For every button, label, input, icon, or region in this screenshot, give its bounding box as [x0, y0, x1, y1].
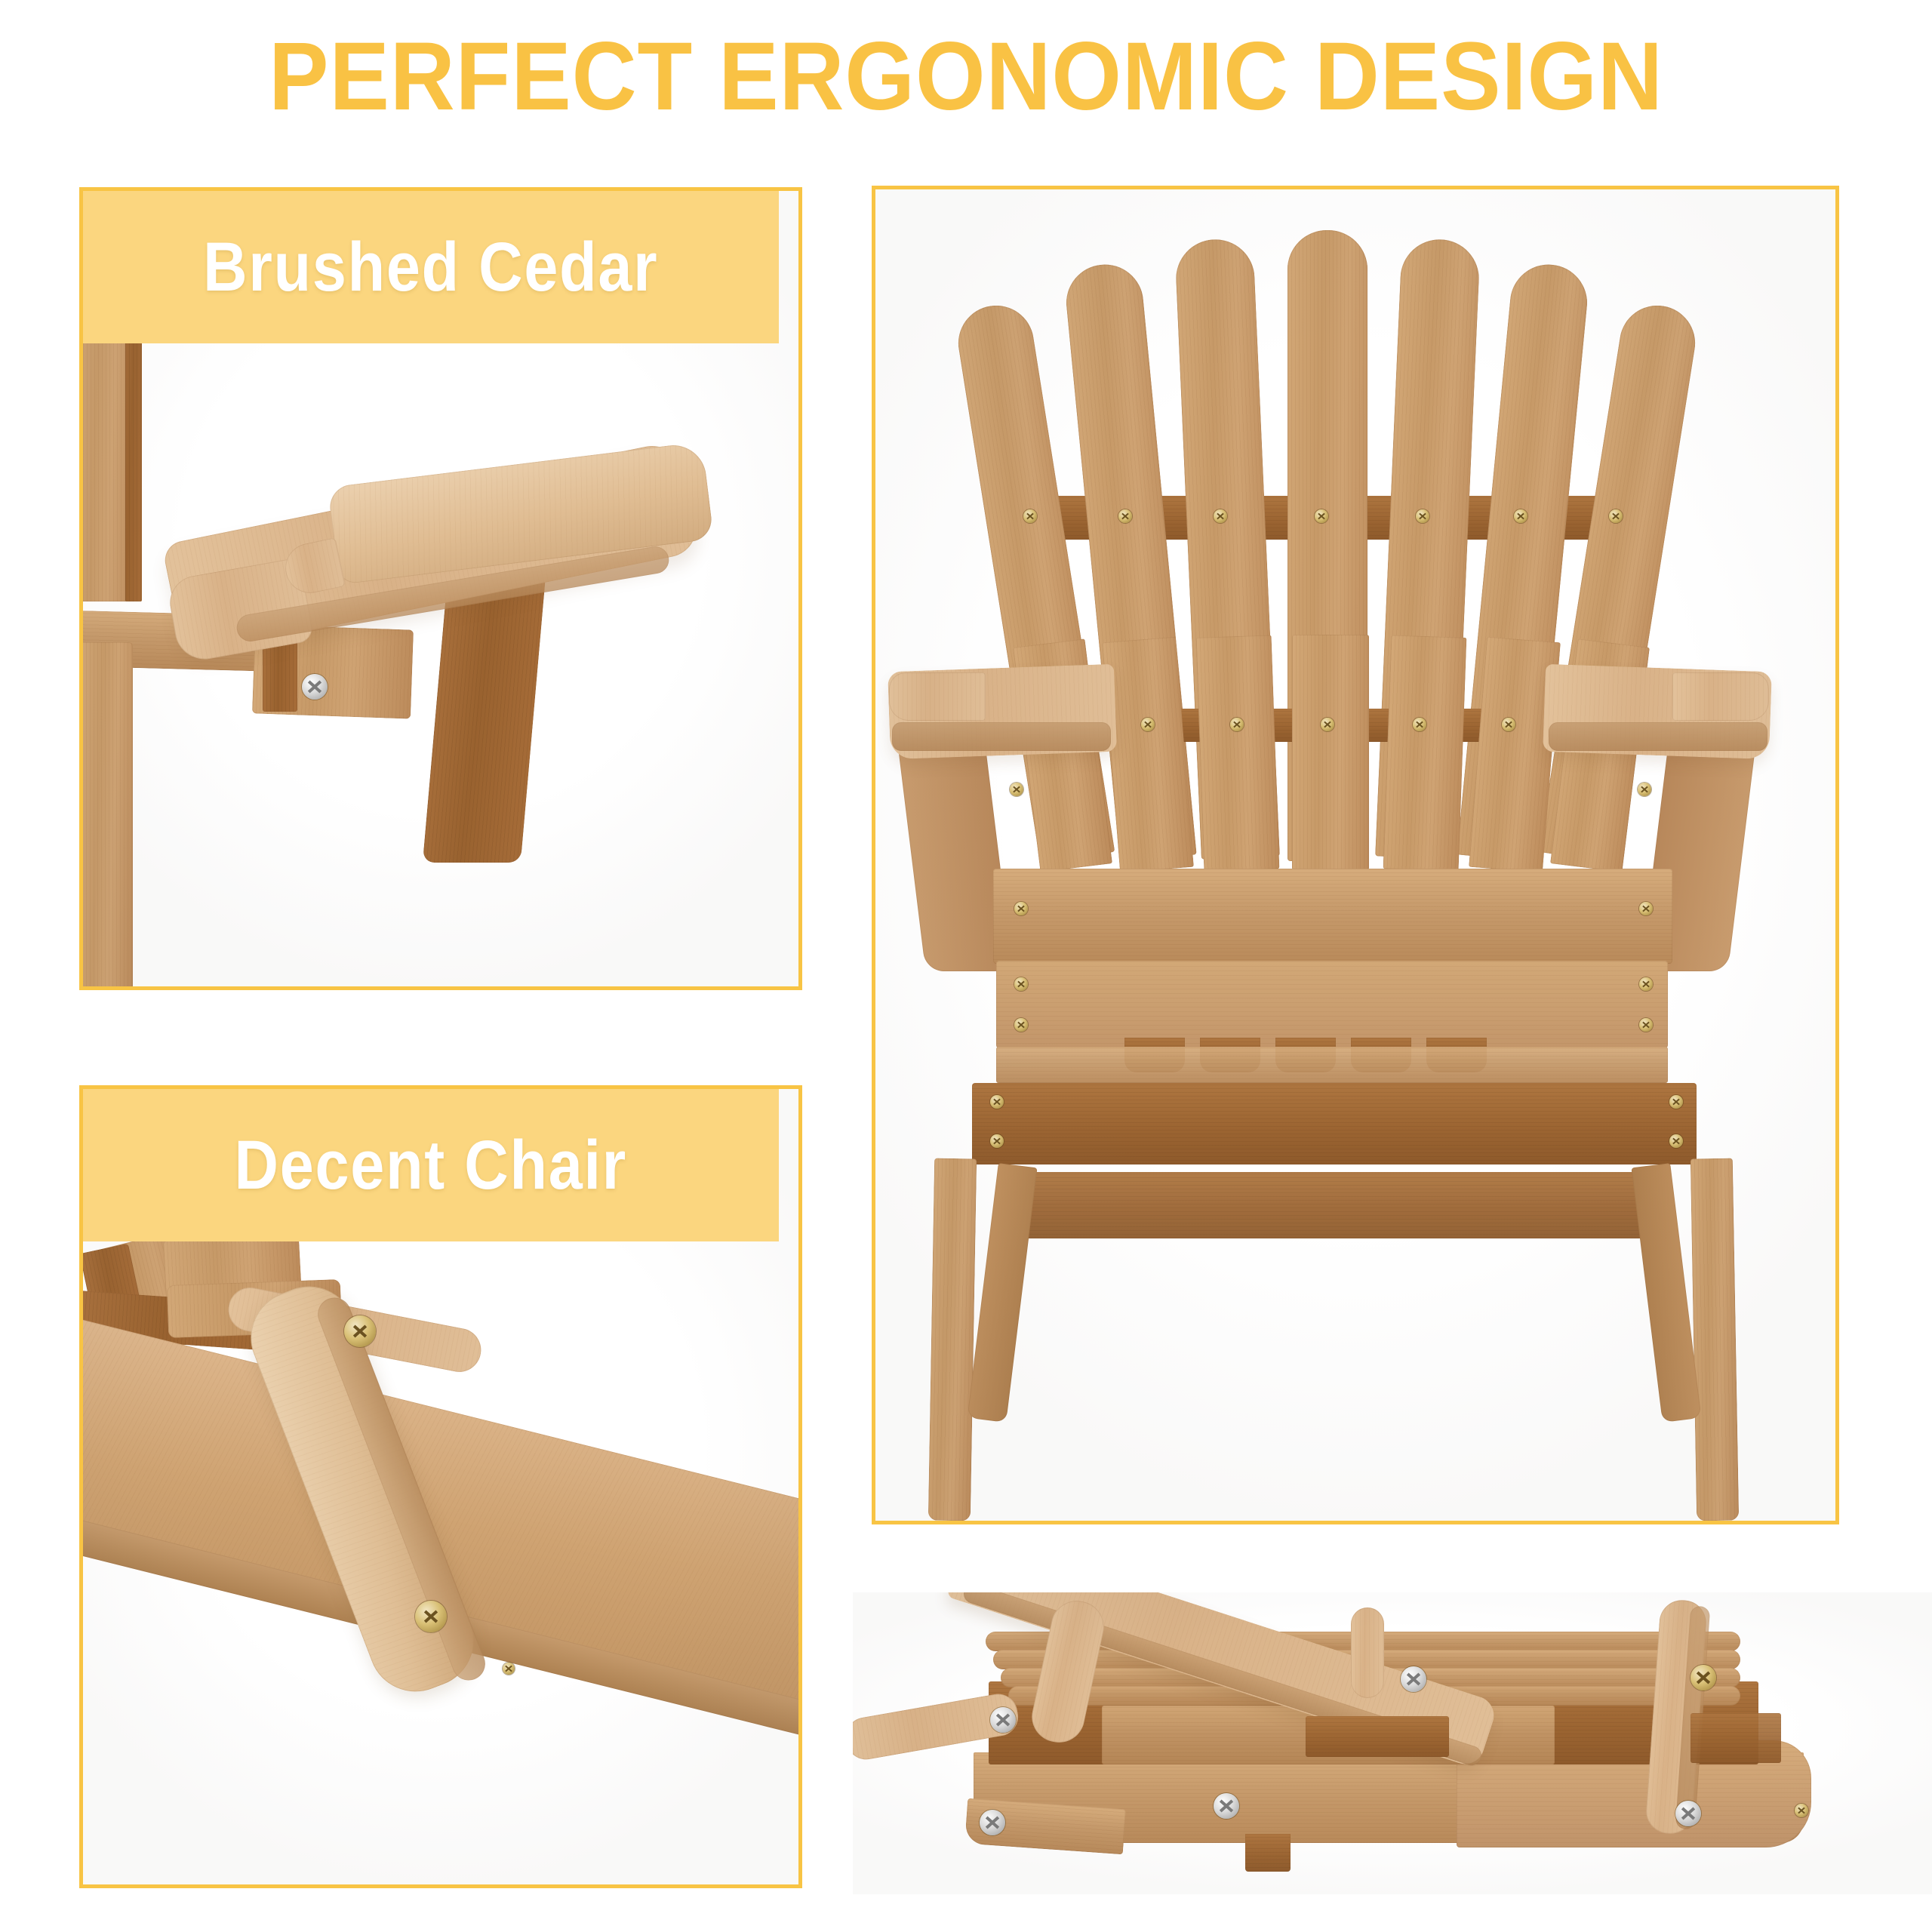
back-screw-icon: [1514, 509, 1527, 523]
back-rail-screw-icon: [1639, 902, 1653, 915]
apron-screw-icon: [990, 1134, 1004, 1148]
apron-screw-icon: [1669, 1134, 1683, 1148]
label-text-decent-chair: Decent Chair: [235, 1126, 628, 1205]
back-screw-icon: [1023, 509, 1037, 523]
full-chair-photo: [875, 189, 1835, 1521]
folded-screw-icon: [1675, 1801, 1701, 1826]
apron-screw-icon: [1669, 1095, 1683, 1109]
mid-rail-screw-icon: [1502, 718, 1515, 731]
folded-screw-icon: [1795, 1804, 1808, 1817]
back-screw-icon: [1416, 509, 1429, 523]
back-screw-icon: [1118, 509, 1132, 523]
mid-rail-screw-icon: [1230, 718, 1244, 731]
folded-screw-icon: [980, 1810, 1005, 1835]
back-screw-icon: [1315, 509, 1328, 523]
back-screw-icon: [1609, 509, 1623, 523]
folded-screw-icon: [1401, 1666, 1426, 1692]
folded-screw-icon: [1214, 1793, 1239, 1819]
seat-screw-icon: [1014, 1018, 1028, 1032]
back-screw-icon: [1214, 509, 1227, 523]
left-arm-screw-icon: [1010, 783, 1023, 796]
panel-brushed-cedar: Brushed Cedar: [79, 187, 802, 990]
right-arm-screw-icon: [1638, 783, 1651, 796]
apron-screw-icon: [990, 1095, 1004, 1109]
mid-rail-screw-icon: [1413, 718, 1426, 731]
label-text-brushed-cedar: Brushed Cedar: [203, 228, 658, 307]
label-banner-decent-chair: Decent Chair: [83, 1089, 779, 1241]
seat-screw-icon: [1639, 977, 1653, 991]
page-title: PERFECT ERGONOMIC DESIGN: [68, 32, 1865, 122]
label-banner-brushed-cedar: Brushed Cedar: [83, 191, 779, 343]
mid-rail-screw-icon: [1321, 718, 1334, 731]
armrest-screw-icon: [302, 674, 328, 700]
back-rail-screw-icon: [1014, 902, 1028, 915]
brace-screw-top-icon: [344, 1315, 376, 1347]
mid-rail-screw-icon: [1141, 718, 1155, 731]
folded-chair-photo: [853, 1592, 1932, 1894]
panel-full-chair: [872, 186, 1839, 1524]
seat-screw-icon: [1639, 1018, 1653, 1032]
brace-screw-bottom-icon: [415, 1601, 447, 1632]
folded-chair-image: [853, 1592, 1932, 1894]
plank-screw-icon: [503, 1663, 515, 1675]
folded-screw-icon: [990, 1707, 1016, 1733]
folded-screw-icon: [1690, 1665, 1716, 1690]
panel-decent-chair: Decent Chair: [79, 1085, 802, 1888]
seat-screw-icon: [1014, 977, 1028, 991]
